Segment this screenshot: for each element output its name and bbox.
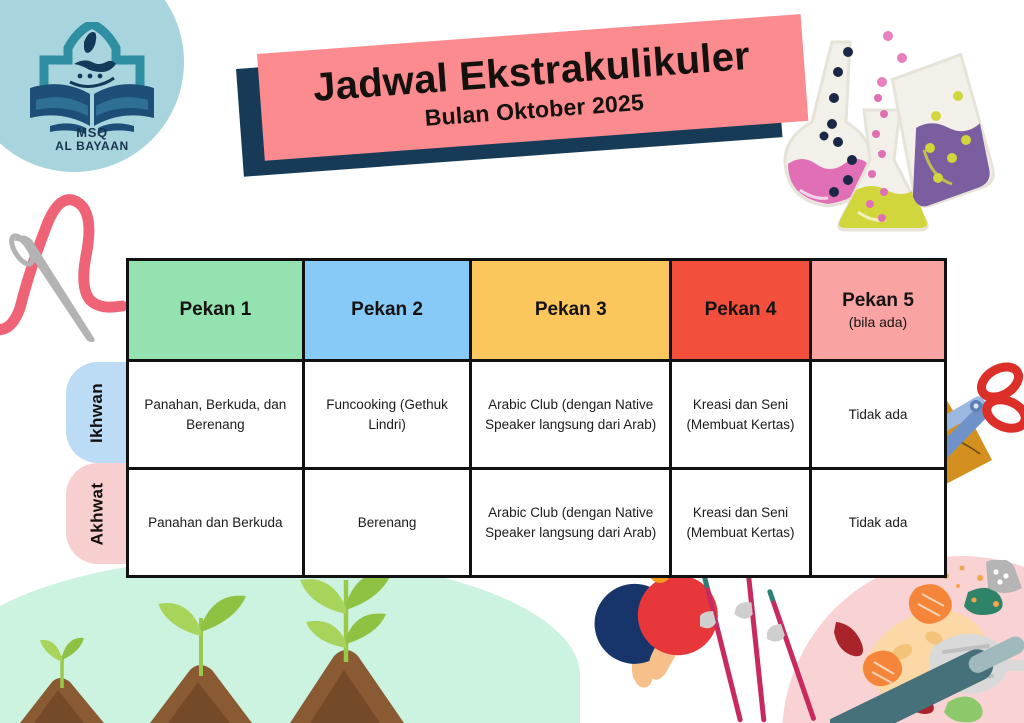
column-header-label: Pekan 2 [351,299,423,321]
column-header-label: Pekan 5 [842,290,914,312]
sewing-needle-thread-icon [0,186,136,356]
cooking-pan-icon [830,560,1024,723]
column-header-pekan-3: Pekan 3 [472,261,672,359]
msq-al-bayaan-logo [22,22,162,152]
column-header-pekan-4: Pekan 4 [672,261,812,359]
poster-canvas: MSQ AL BAYAAN [0,0,1024,723]
cell-akhwat-pekan-1: Panahan dan Berkuda [129,470,305,575]
mint-ground-shape [0,556,580,723]
logo-background-circle [0,0,184,172]
cell-akhwat-pekan-3: Arabic Club (dengan Native Speaker langs… [472,470,672,575]
cell-akhwat-pekan-5: Tidak ada [812,470,944,575]
column-header-label: Pekan 4 [705,299,777,321]
table-row: Panahan dan Berkuda Berenang Arabic Club… [129,470,944,575]
row-label-ikhwan-text: Ikhwan [87,382,107,442]
column-header-pekan-1: Pekan 1 [129,261,305,359]
growing-plants-icon [0,570,470,723]
cell-ikhwan-pekan-2: Funcooking (Gethuk Lindri) [305,362,473,467]
schedule-table: Pekan 1 Pekan 2 Pekan 3 Pekan 4 Pekan 5 … [126,258,947,578]
archery-arrows-icon [700,570,820,723]
column-header-label: Pekan 1 [179,299,251,321]
logo-line-2: AL BAYAAN [22,140,162,153]
cell-ikhwan-pekan-3: Arabic Club (dengan Native Speaker langs… [472,362,672,467]
cell-ikhwan-pekan-4: Kreasi dan Seni (Membuat Kertas) [672,362,812,467]
chemistry-flasks-icon [766,14,1024,234]
cell-akhwat-pekan-4: Kreasi dan Seni (Membuat Kertas) [672,470,812,575]
table-row: Panahan, Berkuda, dan Berenang Funcookin… [129,362,944,470]
logo-wordmark: MSQ AL BAYAAN [22,126,162,152]
column-header-note: (bila ada) [849,314,907,330]
cell-ikhwan-pekan-5: Tidak ada [812,362,944,467]
row-label-akhwat: Akhwat [66,463,128,564]
table-header-row: Pekan 1 Pekan 2 Pekan 3 Pekan 4 Pekan 5 … [129,261,944,362]
column-header-pekan-2: Pekan 2 [305,261,473,359]
column-header-pekan-5: Pekan 5 (bila ada) [812,261,944,359]
cell-akhwat-pekan-2: Berenang [305,470,473,575]
pink-circle-shape [782,556,1024,723]
row-label-akhwat-text: Akhwat [87,482,107,545]
column-header-label: Pekan 3 [535,299,607,321]
logo-line-1: MSQ [22,126,162,140]
cell-ikhwan-pekan-1: Panahan, Berkuda, dan Berenang [129,362,305,467]
row-label-ikhwan: Ikhwan [66,362,128,463]
title-banner: Jadwal Ekstrakulikuler Bulan Oktober 202… [236,47,796,202]
